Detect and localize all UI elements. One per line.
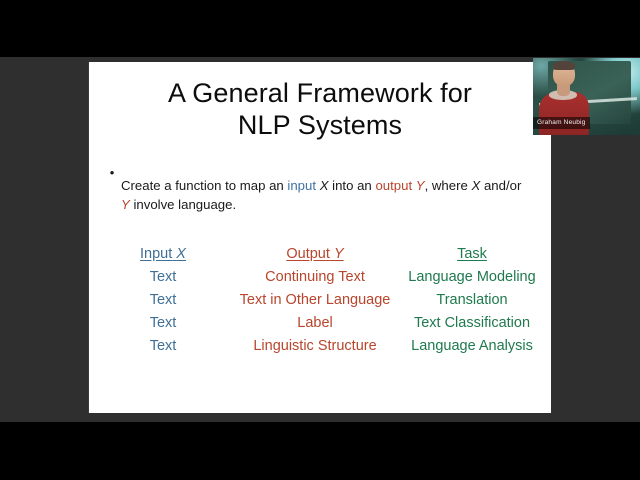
speaker-name-label: Graham Neubig <box>533 117 590 129</box>
cell-task: Language Analysis <box>408 335 536 358</box>
cell-input: Text <box>104 289 222 312</box>
bullet-segment-5: , where <box>425 178 472 193</box>
cell-task: Text Classification <box>408 312 536 335</box>
column-header-task: Task <box>408 243 536 266</box>
variable-y-1: Y <box>416 178 425 193</box>
cell-output: Text in Other Language <box>222 289 408 312</box>
cell-input: Text <box>104 335 222 358</box>
title-line-2: NLP Systems <box>89 110 551 142</box>
cell-task: Language Modeling <box>408 266 536 289</box>
speaker-hair <box>553 61 574 70</box>
variable-x-2: X <box>472 178 481 193</box>
column-header-input-var: X <box>176 246 186 262</box>
page-title: A General Framework for NLP Systems <box>89 62 551 141</box>
bullet-segment-7: involve language. <box>130 197 236 212</box>
title-line-1: A General Framework for <box>89 78 551 110</box>
table-row: Text Text in Other Language Translation <box>104 289 536 312</box>
bullet-segment-1: Create a function to map an <box>121 178 287 193</box>
task-table: Input X Output Y Task Text Continuing Te… <box>104 243 536 358</box>
variable-y-2: Y <box>121 197 130 212</box>
video-player-stage: A General Framework for NLP Systems • Cr… <box>0 0 640 480</box>
column-header-output: Output Y <box>222 243 408 266</box>
bullet-segment-3: into an <box>329 178 376 193</box>
table-row: Text Label Text Classification <box>104 312 536 335</box>
column-header-output-label: Output <box>286 246 330 262</box>
cell-input: Text <box>104 312 222 335</box>
slide-canvas: A General Framework for NLP Systems • Cr… <box>88 62 551 413</box>
bullet-marker-icon: • <box>103 163 121 182</box>
bullet-text: Create a function to map an input X into… <box>121 176 523 214</box>
cell-output: Linguistic Structure <box>222 335 408 358</box>
cell-output: Continuing Text <box>222 266 408 289</box>
bullet-segment-6: and/or <box>480 178 521 193</box>
cell-output: Label <box>222 312 408 335</box>
variable-x-1: X <box>320 178 329 193</box>
keyword-output: output <box>375 178 412 193</box>
keyword-input: input <box>287 178 316 193</box>
table-header-row: Input X Output Y Task <box>104 243 536 266</box>
cell-task: Translation <box>408 289 536 312</box>
bullet-item: • Create a function to map an input X in… <box>89 163 551 227</box>
webcam-thumbnail[interactable]: Graham Neubig <box>533 58 640 135</box>
table-row: Text Linguistic Structure Language Analy… <box>104 335 536 358</box>
cell-input: Text <box>104 266 222 289</box>
table-row: Text Continuing Text Language Modeling <box>104 266 536 289</box>
column-header-output-var: Y <box>334 246 344 262</box>
column-header-input-label: Input <box>140 246 172 262</box>
column-header-task-label: Task <box>457 246 487 262</box>
column-header-input: Input X <box>104 243 222 266</box>
